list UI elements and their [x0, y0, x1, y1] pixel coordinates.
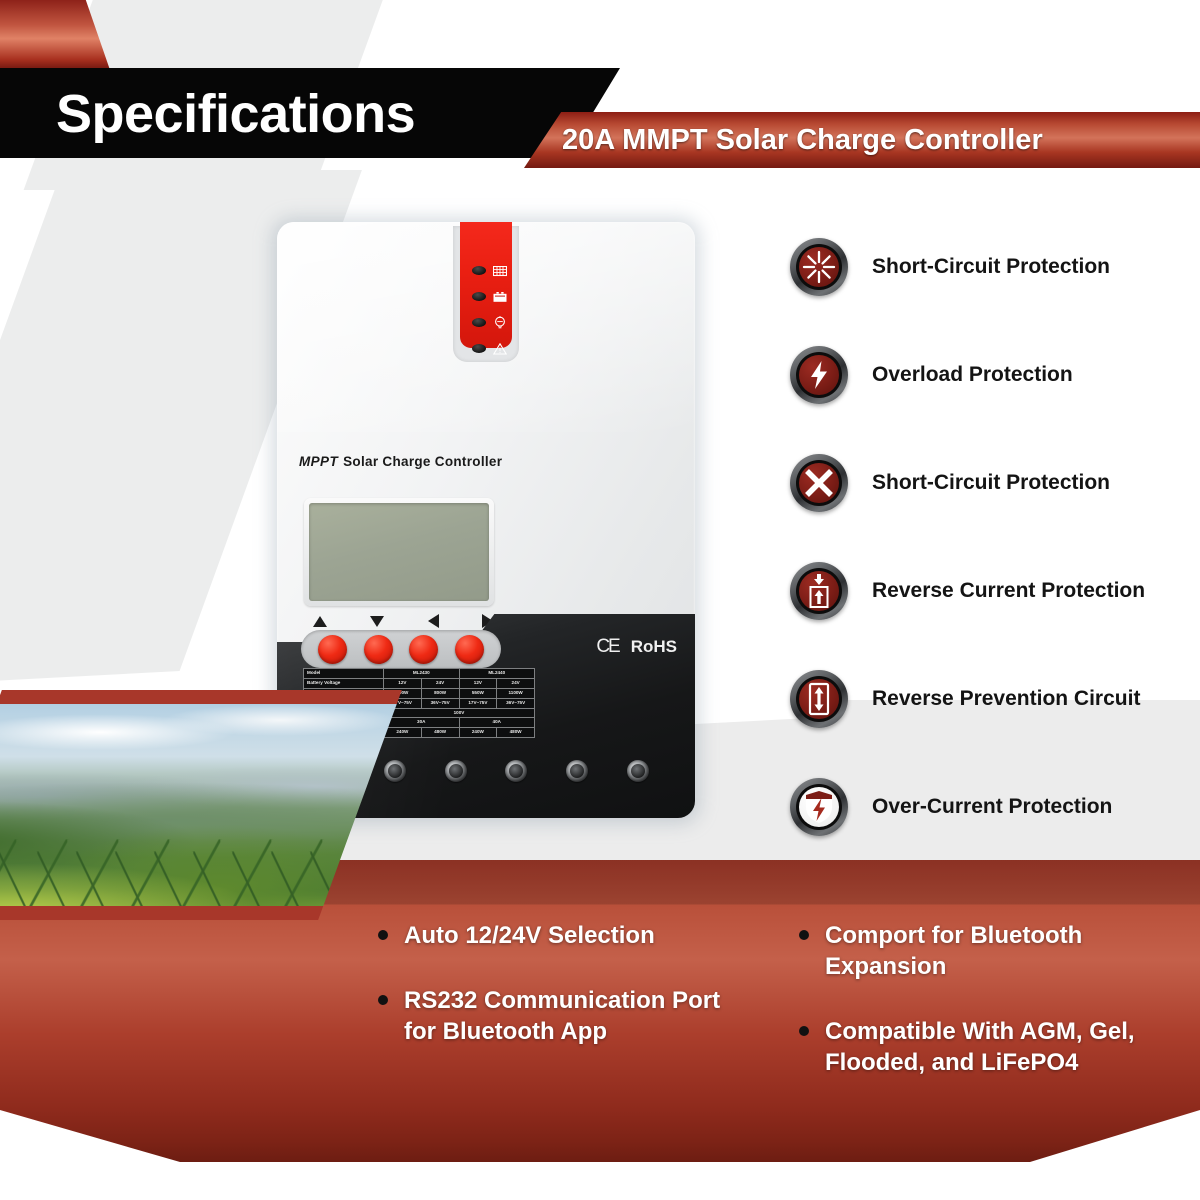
led-row-solar — [472, 262, 512, 279]
feature-icon-ring — [796, 568, 842, 614]
spec-cell: 100V — [384, 708, 535, 718]
left-button[interactable] — [409, 635, 438, 664]
solar-panel-icon — [493, 264, 507, 277]
feature-list: Short-Circuit ProtectionOverload Protect… — [790, 213, 1200, 861]
terminal-screw — [445, 760, 467, 782]
spec-cell: ML2440 — [459, 669, 535, 679]
ce-mark-icon: CE — [596, 636, 618, 658]
terminal-screw — [566, 760, 588, 782]
feature-item-3: Reverse Current Protection — [790, 537, 1200, 645]
feature-icon-ring — [796, 460, 842, 506]
bottom-banner-base — [0, 1110, 1200, 1162]
led-indicator-strip — [460, 222, 512, 348]
spec-cell: 240W — [384, 728, 422, 738]
feature-label: Overload Protection — [872, 362, 1073, 388]
feature-label: Reverse Prevention Circuit — [872, 686, 1140, 712]
lcd-screen — [309, 503, 489, 601]
up-arrow-icon — [313, 616, 327, 627]
spec-cell: 800W — [421, 688, 459, 698]
double-arrow-icon — [799, 679, 839, 719]
spec-row-label: Model — [304, 669, 384, 679]
bullet-column-left: Auto 12/24V SelectionRS232 Communication… — [378, 920, 779, 1100]
spec-row-label: Battery Voltage — [304, 678, 384, 688]
shield-bolt-icon — [799, 787, 839, 827]
feature-item-2: Short-Circuit Protection — [790, 429, 1200, 537]
feature-icon-ring — [796, 244, 842, 290]
bullet-dot-icon — [378, 930, 388, 940]
spec-cell: 12V — [459, 678, 497, 688]
device-brand-mark: MPPT — [299, 454, 338, 469]
spec-table-row: ModelML2430ML2440 — [304, 669, 535, 679]
feature-item-5: Over-Current Protection — [790, 753, 1200, 861]
bullet-sections: Auto 12/24V SelectionRS232 Communication… — [0, 920, 1200, 1100]
feature-item-0: Short-Circuit Protection — [790, 213, 1200, 321]
feature-icon-bezel — [790, 670, 848, 728]
bullet-text: Comport for Bluetooth Expansion — [825, 920, 1165, 982]
spec-cell: 480W — [497, 728, 535, 738]
bullet-text: Compatible With AGM, Gel, Flooded, and L… — [825, 1016, 1165, 1078]
rohs-label: RoHS — [631, 637, 677, 657]
led-indicator-dot — [472, 292, 486, 301]
spec-cell: 12V — [384, 678, 422, 688]
feature-item-1: Overload Protection — [790, 321, 1200, 429]
terminal-screw — [505, 760, 527, 782]
spec-table-row: Battery Voltage12V24V12V24V — [304, 678, 535, 688]
spec-cell: 36V~75V — [497, 698, 535, 708]
spec-cell: 480W — [421, 728, 459, 738]
led-row-battery — [472, 288, 512, 305]
bullet-column-right: Comport for Bluetooth ExpansionCompatibl… — [799, 920, 1200, 1100]
bullet-item-0: Auto 12/24V Selection — [378, 920, 779, 951]
down-up-arrow-icon — [799, 571, 839, 611]
bullet-text: Auto 12/24V Selection — [404, 920, 655, 951]
terminal-screw — [627, 760, 649, 782]
spec-cell: 17V~75V — [459, 698, 497, 708]
lcd-bezel — [304, 498, 494, 606]
bullet-dot-icon — [799, 930, 809, 940]
terminal-screw — [384, 760, 406, 782]
device-brand-text: Solar Charge Controller — [343, 454, 502, 469]
lightning-bolt-icon — [799, 355, 839, 395]
spec-cell: 24V — [497, 678, 535, 688]
button-tray — [301, 630, 501, 668]
spec-cell: 40A — [459, 718, 535, 728]
spec-cell: 36V~75V — [421, 698, 459, 708]
warning-triangle-icon — [493, 342, 507, 355]
lamp-icon — [493, 316, 507, 329]
feature-label: Over-Current Protection — [872, 794, 1112, 820]
burst-icon — [799, 247, 839, 287]
up-button[interactable] — [318, 635, 347, 664]
feature-icon-bezel — [790, 346, 848, 404]
x-cross-icon — [799, 463, 839, 503]
spec-cell: 240W — [459, 728, 497, 738]
bullet-item-0: Comport for Bluetooth Expansion — [799, 920, 1200, 982]
feature-label: Short-Circuit Protection — [872, 470, 1110, 496]
right-button[interactable] — [455, 635, 484, 664]
left-arrow-icon — [428, 614, 439, 628]
bullet-dot-icon — [378, 995, 388, 1005]
led-row-lamp — [472, 314, 512, 331]
led-indicator-dot — [472, 266, 486, 275]
feature-icon-ring — [796, 676, 842, 722]
arrow-indicator-row — [313, 612, 493, 630]
feature-icon-ring — [796, 352, 842, 398]
certification-marks: CE RoHS — [596, 636, 677, 658]
down-arrow-icon — [370, 616, 384, 627]
bullet-text: RS232 Communication Port for Bluetooth A… — [404, 985, 744, 1047]
bullet-item-1: Compatible With AGM, Gel, Flooded, and L… — [799, 1016, 1200, 1078]
spec-cell: 30A — [384, 718, 460, 728]
spec-cell: 24V — [421, 678, 459, 688]
feature-icon-bezel — [790, 238, 848, 296]
feature-icon-bezel — [790, 562, 848, 620]
feature-icon-ring — [796, 784, 842, 830]
led-row-warning — [472, 340, 512, 357]
feature-icon-bezel — [790, 454, 848, 512]
feature-icon-bezel — [790, 778, 848, 836]
battery-icon — [493, 290, 507, 303]
spec-cell: ML2430 — [384, 669, 460, 679]
led-indicator-dot — [472, 344, 486, 353]
feature-label: Short-Circuit Protection — [872, 254, 1110, 280]
bullet-dot-icon — [799, 1026, 809, 1036]
feature-label: Reverse Current Protection — [872, 578, 1145, 604]
led-indicator-dot — [472, 318, 486, 327]
spec-cell: 1100W — [497, 688, 535, 698]
down-button[interactable] — [364, 635, 393, 664]
bullet-item-1: RS232 Communication Port for Bluetooth A… — [378, 985, 779, 1047]
infographic-canvas: Specifications 20A MMPT Solar Charge Con… — [0, 0, 1200, 1200]
feature-item-4: Reverse Prevention Circuit — [790, 645, 1200, 753]
device-brand-label: MPPTSolar Charge Controller — [299, 454, 502, 469]
spec-cell: 550W — [459, 688, 497, 698]
page-title: Specifications — [56, 74, 415, 154]
header-subtitle: 20A MMPT Solar Charge Controller — [562, 116, 1200, 164]
